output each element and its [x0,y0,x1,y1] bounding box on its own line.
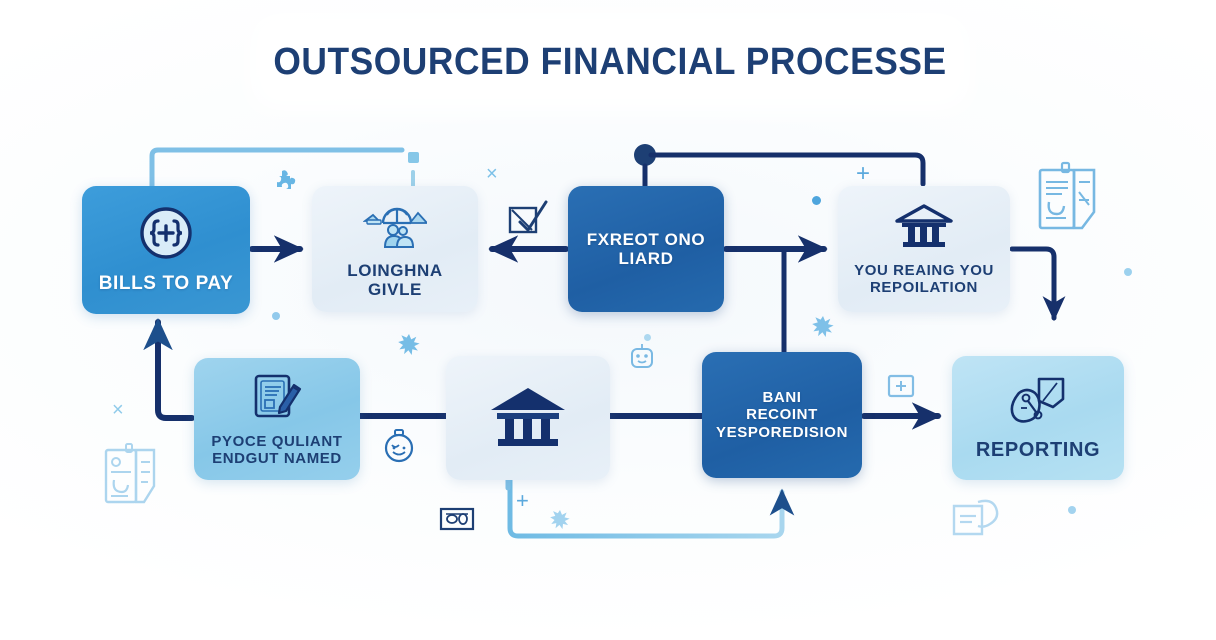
starburst-icon [398,334,420,361]
node-label: LOINGHNA GIVLE [322,261,468,300]
x-mark: × [112,400,124,420]
node-label-line-2: RECOINT [746,406,818,423]
diagram-canvas: OUTSOURCED FINANCIAL PROCESSE BILLS TO P… [0,0,1216,640]
node-label-line-1: FXREOT ONO [587,230,705,249]
node-loinghna-givle[interactable]: LOINGHNA GIVLE [312,186,478,312]
node-you-reaing-you-repoilation[interactable]: YOU REAING YOU REPOILATION [838,186,1010,312]
plus-mark: + [516,490,529,512]
accent-dot [1124,268,1132,276]
bank-building-icon [893,202,955,255]
coin-dollar-circle-icon [138,205,194,266]
node-fxreot-ono-liard[interactable]: FXREOT ONO LIARD [568,186,724,312]
document-pencil-icon [250,371,304,426]
invoice-document-icon [1032,160,1108,243]
plus-mark: + [856,162,870,186]
title-plate: OUTSOURCED FINANCIAL PROCESSE [265,28,955,96]
node-label-line-3: YESPOREDISION [716,424,848,441]
node-label-line-1: BANI [762,389,801,406]
connector-fxreot-top-rail [651,155,923,184]
node-label-line-1: PYOCE QULIANT [211,433,342,450]
invoice-document-icon [100,440,166,517]
node-label: REPORTING [976,439,1100,462]
page-title: OUTSOURCED FINANCIAL PROCESSE [273,41,946,84]
accent-dot [1068,506,1076,514]
connector-repoilation-to-reporting [1012,249,1054,318]
rail-endcap [408,152,419,163]
accent-dot [644,334,651,341]
accent-dot [272,312,280,320]
node-label-line-2: ENDGUT NAMED [212,450,342,467]
bank-building-icon [486,383,570,454]
x-mark: × [486,164,498,184]
node-label-line-1: YOU REAING YOU [854,262,994,279]
node-label-line-2: REPOILATION [870,279,978,296]
accent-dot [812,196,821,205]
node-label: BILLS TO PAY [99,273,234,295]
node-bank-transfer[interactable] [446,356,610,480]
checkbox-check-icon [506,198,550,245]
note-hand-icon [948,494,1010,555]
node-bills-to-pay[interactable]: BILLS TO PAY [82,186,250,314]
starburst-icon [550,510,570,535]
team-meeting-icon [363,199,427,254]
connector-pyoce-to-bills [158,322,192,418]
clock-alarm-icon [382,428,416,469]
receipt-small-icon [886,372,916,405]
robot-head-icon [628,342,656,377]
connector-layer [0,0,1216,640]
chart-report-icon [1009,375,1067,432]
starburst-icon [812,316,834,343]
node-pyoce-quliant-endgut-named[interactable]: PYOCE QULIANT ENDGUT NAMED [194,358,360,480]
money-card-icon [438,504,476,539]
node-label-line-2: LIARD [619,249,674,268]
node-reporting[interactable]: REPORTING [952,356,1124,480]
puzzle-piece-icon [272,168,298,199]
node-bani-recoint-yesporedision[interactable]: BANI RECOINT YESPOREDISION [702,352,862,478]
